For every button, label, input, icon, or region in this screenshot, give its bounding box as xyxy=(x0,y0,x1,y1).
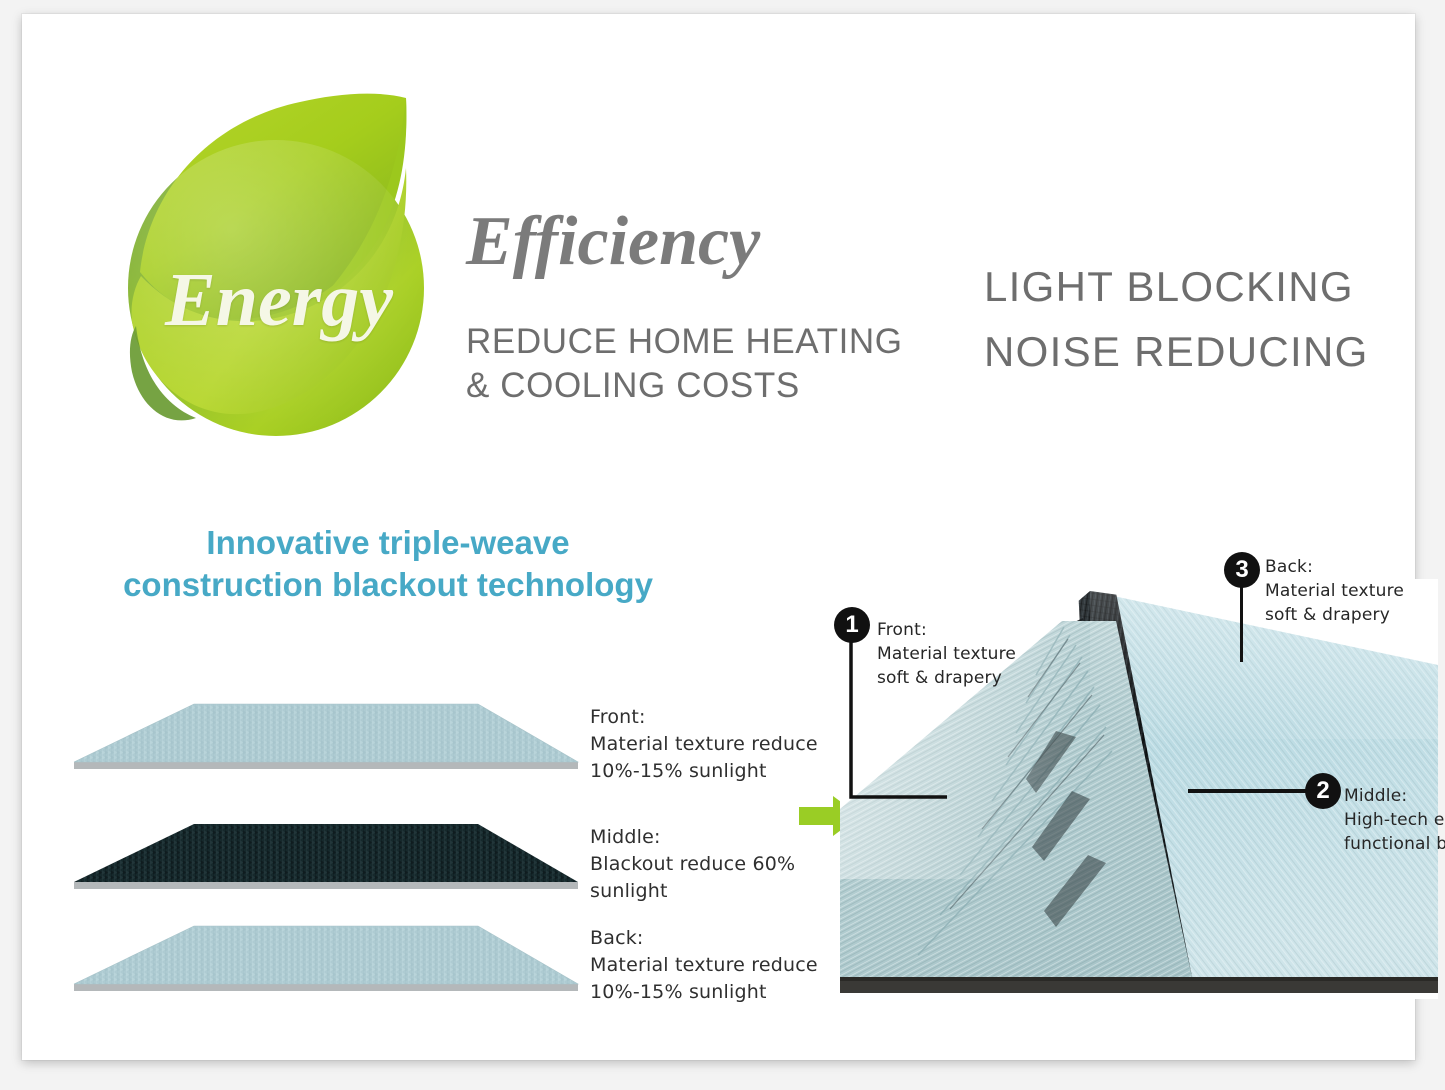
callout-2-badge: 2 xyxy=(1305,773,1341,809)
callout-3-line-3: soft & drapery xyxy=(1265,603,1404,627)
callout-3-title: Back: xyxy=(1265,555,1404,579)
infographic-page: Energy Efficiency REDUCE HOME HEATING & … xyxy=(0,0,1445,1090)
layer-label-back: Back: Material texture reduce 10%-15% su… xyxy=(590,925,818,1006)
callout-2-text: Middle: High-tech eco-yarn functional bl… xyxy=(1344,784,1445,856)
logo-wordmark: Energy xyxy=(138,262,420,338)
callout-1-line-3: soft & drapery xyxy=(877,666,1016,690)
callout-1-title: Front: xyxy=(877,618,1016,642)
feature-claims: LIGHT BLOCKING NOISE REDUCING xyxy=(984,254,1369,384)
layer-middle-title: Middle: xyxy=(590,824,795,851)
callout-2-line-3: functional blackout xyxy=(1344,832,1445,856)
callout-3-text: Back: Material texture soft & drapery xyxy=(1265,555,1404,627)
callout-2-line-2: High-tech eco-yarn xyxy=(1344,808,1445,832)
subheadline: REDUCE HOME HEATING & COOLING COSTS xyxy=(466,320,903,408)
layer-slab-front xyxy=(66,700,586,776)
front-layer-shape xyxy=(66,700,586,776)
layer-label-middle: Middle: Blackout reduce 60% sunlight xyxy=(590,824,795,905)
section-heading-line-2: construction blackout technology xyxy=(58,564,718,606)
subheadline-line-1: REDUCE HOME HEATING xyxy=(466,320,903,364)
middle-layer-shape xyxy=(66,820,586,896)
headline-efficiency: Efficiency xyxy=(466,207,760,277)
layer-front-line-2: Material texture reduce xyxy=(590,731,818,758)
callout-3-badge: 3 xyxy=(1224,552,1260,588)
callout-3-line-2: Material texture xyxy=(1265,579,1404,603)
section-heading: Innovative triple-weave construction bla… xyxy=(58,522,718,606)
layer-back-line-3: 10%-15% sunlight xyxy=(590,979,818,1006)
callout-1-line-2: Material texture xyxy=(877,642,1016,666)
callout-1-badge: 1 xyxy=(834,607,870,643)
back-layer-shape xyxy=(66,922,586,998)
layer-middle-line-3: sunlight xyxy=(590,878,795,905)
callout-2-leader-line xyxy=(1188,789,1308,793)
layer-back-line-2: Material texture reduce xyxy=(590,952,818,979)
callout-1-text: Front: Material texture soft & drapery xyxy=(877,618,1016,690)
layer-back-title: Back: xyxy=(590,925,818,952)
layer-front-title: Front: xyxy=(590,704,818,731)
claim-noise-reducing: NOISE REDUCING xyxy=(984,319,1369,384)
layer-slab-back xyxy=(66,922,586,998)
layer-front-line-3: 10%-15% sunlight xyxy=(590,758,818,785)
layer-slab-middle xyxy=(66,820,586,896)
layer-label-front: Front: Material texture reduce 10%-15% s… xyxy=(590,704,818,785)
white-card: Energy Efficiency REDUCE HOME HEATING & … xyxy=(22,14,1415,1060)
section-heading-line-1: Innovative triple-weave xyxy=(58,522,718,564)
callout-2-title: Middle: xyxy=(1344,784,1445,808)
claim-light-blocking: LIGHT BLOCKING xyxy=(984,254,1369,319)
subheadline-line-2: & COOLING COSTS xyxy=(466,364,903,408)
energy-leaf-logo: Energy xyxy=(110,76,440,446)
layer-middle-line-2: Blackout reduce 60% xyxy=(590,851,795,878)
callout-3-leader-line xyxy=(1240,586,1243,662)
